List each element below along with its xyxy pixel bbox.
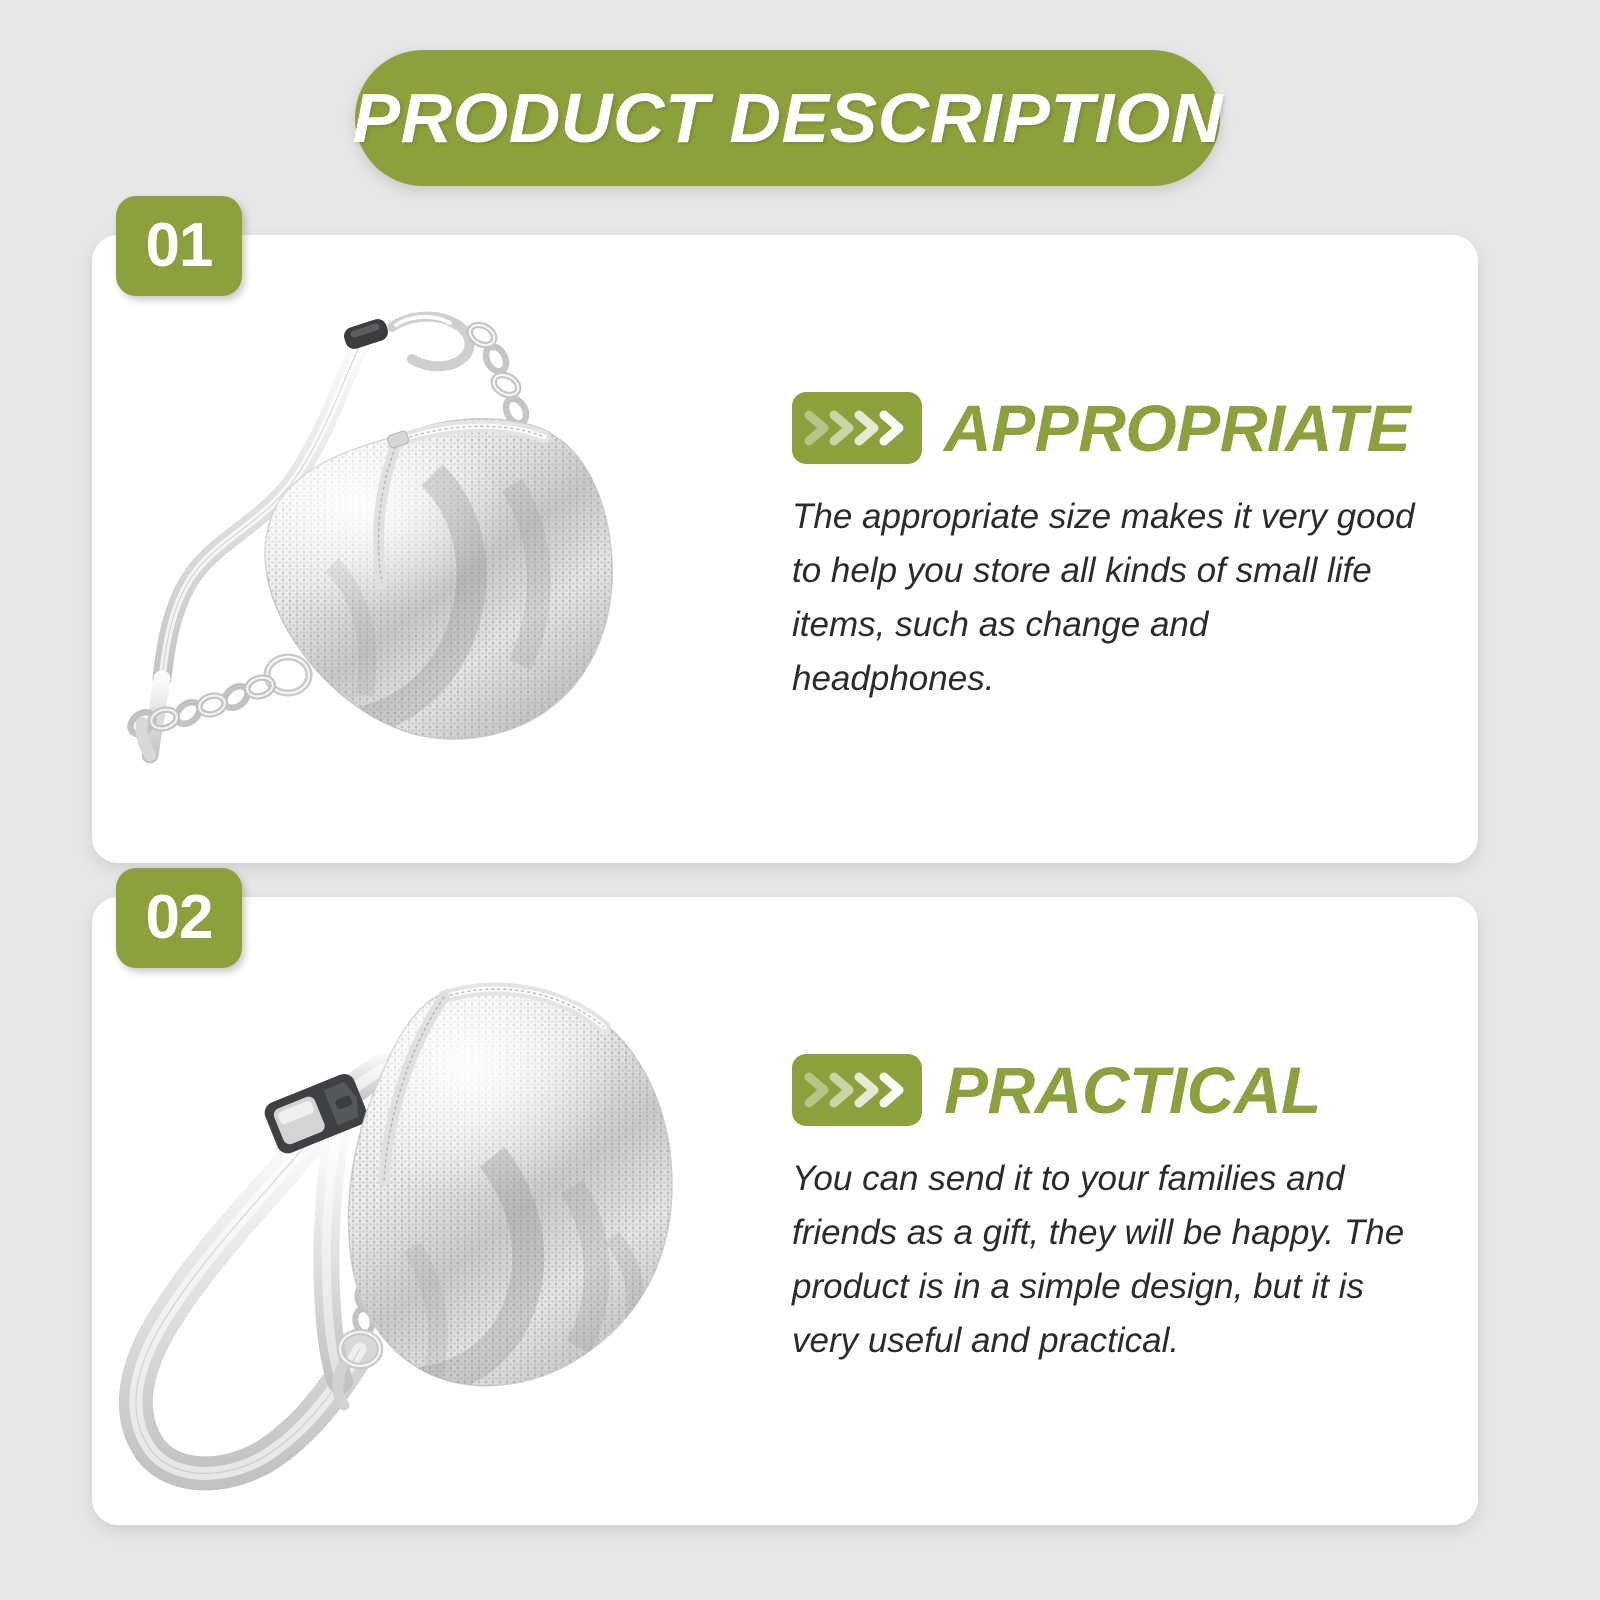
product-photo-02 (92, 897, 782, 1525)
step-number-label-02: 02 (146, 887, 213, 949)
product-description-page: PRODUCT DESCRIPTION (0, 0, 1600, 1600)
fanny-pack-buckle-illustration (92, 897, 782, 1525)
product-photo-01 (92, 235, 782, 863)
page-title: PRODUCT DESCRIPTION (352, 83, 1223, 153)
double-chevron-right-icon (792, 392, 922, 464)
feature-body-02: You can send it to your families and fri… (792, 1152, 1417, 1368)
feature-body-01: The appropriate size makes it very good … (792, 490, 1417, 706)
feature-title-02: PRACTICAL (944, 1057, 1321, 1123)
double-chevron-right-icon (792, 1054, 922, 1126)
feature-card-02: PRACTICAL You can send it to your famili… (92, 897, 1478, 1525)
step-number-label-01: 01 (146, 215, 213, 277)
step-number-badge-01: 01 (116, 196, 242, 296)
feature-text-01: APPROPRIATE The appropriate size makes i… (782, 392, 1478, 706)
step-number-badge-02: 02 (116, 868, 242, 968)
fanny-pack-chain-illustration (92, 235, 782, 863)
feature-card-01: APPROPRIATE The appropriate size makes i… (92, 235, 1478, 863)
feature-title-01: APPROPRIATE (944, 395, 1410, 461)
page-header-banner: PRODUCT DESCRIPTION (355, 50, 1220, 186)
feature-text-02: PRACTICAL You can send it to your famili… (782, 1054, 1478, 1368)
